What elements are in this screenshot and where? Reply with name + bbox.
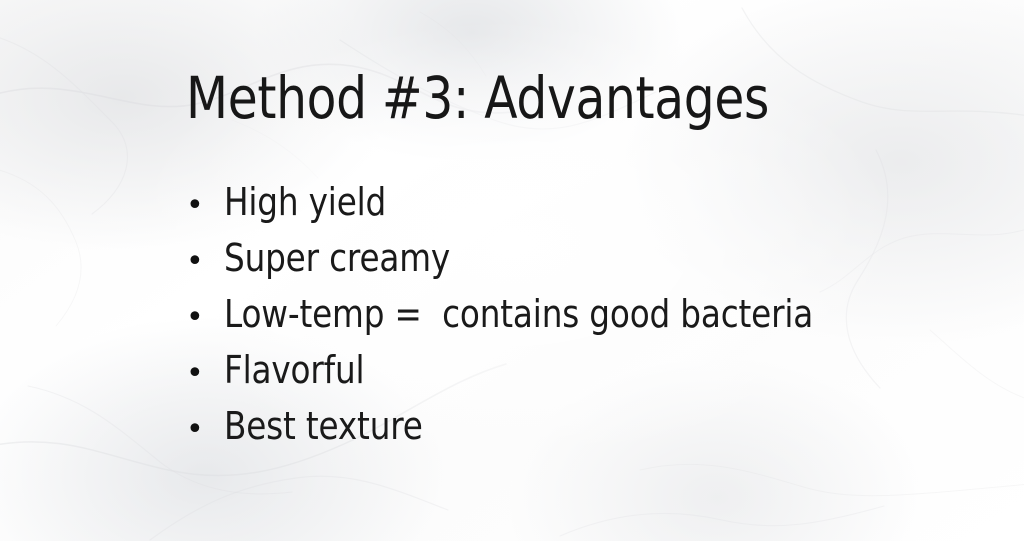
list-item: • Best texture	[186, 398, 909, 454]
bullet-point-icon: •	[186, 346, 224, 402]
list-item: • High yield	[186, 174, 909, 230]
bullet-point-icon: •	[186, 402, 224, 458]
list-item-label: High yield	[224, 174, 386, 230]
list-item-label: Best texture	[224, 398, 423, 454]
slide-content: Method #3: Advantages • High yield • Sup…	[0, 0, 1024, 541]
list-item: • Low-temp = contains good bacteria	[186, 286, 909, 342]
bullet-point-icon: •	[186, 290, 224, 346]
list-item: • Flavorful	[186, 342, 909, 398]
list-item-label: Low-temp = contains good bacteria	[224, 286, 813, 342]
presentation-slide: Method #3: Advantages • High yield • Sup…	[0, 0, 1024, 541]
bullet-point-icon: •	[186, 178, 224, 234]
list-item-label: Super creamy	[224, 230, 450, 286]
list-item-label: Flavorful	[224, 342, 364, 398]
page-title: Method #3: Advantages	[186, 64, 769, 132]
list-item: • Super creamy	[186, 230, 909, 286]
advantages-bullet-list: • High yield • Super creamy • Low-temp =…	[186, 174, 909, 454]
bullet-point-icon: •	[186, 234, 224, 290]
